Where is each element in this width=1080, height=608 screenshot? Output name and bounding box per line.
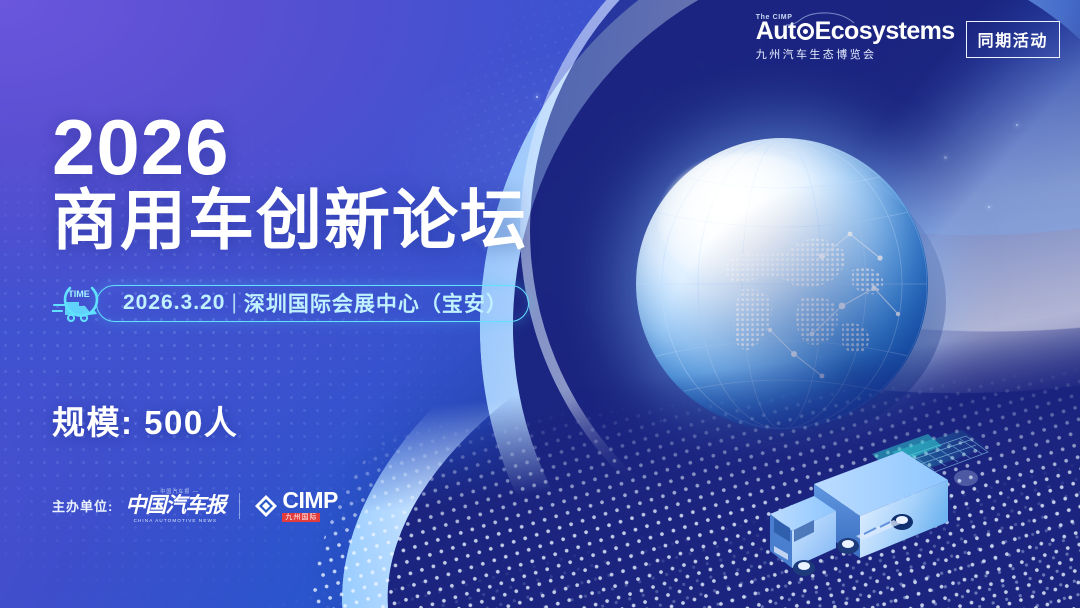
cimp-diamond-icon <box>254 494 278 518</box>
cn-logo-subtitle: CHINA AUTOMOTIVE NEWS <box>134 518 218 523</box>
logo-orbit-icon <box>797 23 814 40</box>
china-automotive-news-logo: — 中国汽车报 — 中国汽车报 CHINA AUTOMOTIVE NEWS <box>125 488 225 523</box>
cimp-logo: CIMP 九州国际 <box>254 489 338 522</box>
cimp-subtitle: 九州国际 <box>282 513 320 522</box>
organizer-divider <box>239 493 240 519</box>
cn-logo-name: 中国汽车报 <box>125 495 225 516</box>
date-venue-row: TIME 2026.3.20 | 深圳国际会展中心（宝安） <box>52 280 612 326</box>
date-venue-pill: 2026.3.20 | 深圳国际会展中心（宝安） <box>96 285 529 322</box>
promotional-banner: The CIMP Aut Ecosystems 九州汽车生态博览会 同期活动 2… <box>0 0 1080 608</box>
event-date: 2026.3.20 <box>123 291 225 315</box>
event-scale: 规模: 500人 <box>52 396 612 444</box>
logo-chinese-name: 九州汽车生态博览会 <box>756 46 877 62</box>
time-icon-label: TIME <box>68 289 90 299</box>
event-title: 商用车创新论坛 <box>52 186 612 255</box>
event-venue: 深圳国际会展中心（宝安） <box>244 288 508 318</box>
main-content: 2026 商用车创新论坛 TIME 2026.3.20 | 深圳国际会展中心（宝… <box>52 112 612 523</box>
electric-semi-truck-graphic <box>752 418 1002 588</box>
event-year: 2026 <box>52 112 612 184</box>
time-truck-icon: TIME <box>52 280 106 326</box>
auto-ecosystems-logo: The CIMP Aut Ecosystems 九州汽车生态博览会 <box>756 14 955 62</box>
cimp-text-block: CIMP 九州国际 <box>282 489 338 522</box>
cimp-name: CIMP <box>282 489 338 512</box>
organizer-row: 主办单位: — 中国汽车报 — 中国汽车报 CHINA AUTOMOTIVE N… <box>52 488 612 523</box>
concurrent-event-badge: 同期活动 <box>966 21 1060 58</box>
cn-logo-top-mark: — 中国汽车报 — <box>152 488 199 495</box>
pill-separator: | <box>231 291 237 315</box>
organizer-label: 主办单位: <box>52 496 113 515</box>
exhibition-logo-block: The CIMP Aut Ecosystems 九州汽车生态博览会 同期活动 <box>756 14 1060 62</box>
logo-tagline: The CIMP <box>756 14 793 21</box>
car-silhouette-icon <box>784 11 856 27</box>
